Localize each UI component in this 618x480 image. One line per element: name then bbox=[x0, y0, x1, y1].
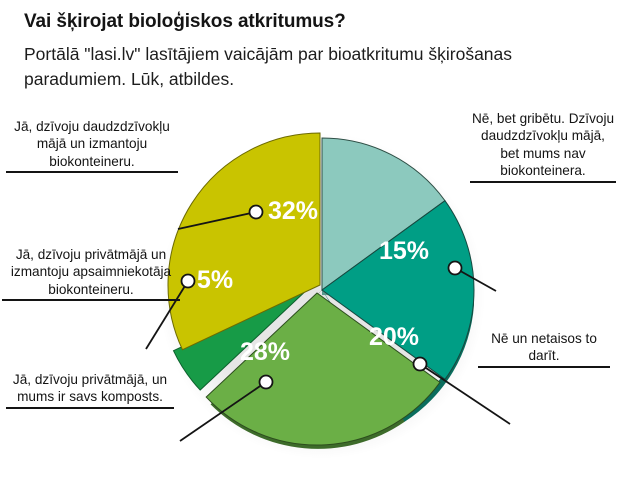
leader-dot-28[interactable] bbox=[260, 376, 273, 389]
pie-chart: 32% 15% 20% 28% 5% bbox=[0, 0, 618, 480]
callout-rule-15 bbox=[470, 181, 616, 183]
callout-rule-28 bbox=[6, 407, 174, 409]
pie-value-28: 28% bbox=[240, 338, 290, 366]
pie-value-5: 5% bbox=[197, 266, 233, 294]
leader-dot-20[interactable] bbox=[414, 358, 427, 371]
callout-text-5: Jā, dzīvoju privātmājā un izmantoju apsa… bbox=[2, 246, 180, 298]
leader-dot-15[interactable] bbox=[449, 262, 462, 275]
callout-text-15: Nē, bet gribētu. Dzīvoju daudzdzīvokļu m… bbox=[470, 110, 616, 180]
callout-rule-32 bbox=[6, 171, 178, 173]
callout-label-5: Jā, dzīvoju privātmājā un izmantoju apsa… bbox=[2, 246, 180, 301]
callout-text-32: Jā, dzīvoju daudzdzīvokļu mājā un izmant… bbox=[6, 118, 178, 170]
infographic-root: Vai šķirojat bioloģiskos atkritumus? Por… bbox=[0, 0, 618, 480]
leader-dot-32[interactable] bbox=[250, 206, 263, 219]
callout-label-32: Jā, dzīvoju daudzdzīvokļu mājā un izmant… bbox=[6, 118, 178, 173]
leader-dot-5[interactable] bbox=[182, 275, 195, 288]
callout-rule-5 bbox=[2, 299, 180, 301]
callout-label-15: Nē, bet gribētu. Dzīvoju daudzdzīvokļu m… bbox=[470, 110, 616, 183]
pie-value-20: 20% bbox=[369, 323, 419, 351]
callout-label-28: Jā, dzīvoju privātmājā, un mums ir savs … bbox=[6, 371, 174, 409]
pie-value-15: 15% bbox=[379, 237, 429, 265]
callout-rule-20 bbox=[478, 366, 610, 368]
pie-value-32: 32% bbox=[268, 197, 318, 225]
callout-text-28: Jā, dzīvoju privātmājā, un mums ir savs … bbox=[6, 371, 174, 406]
callout-label-20: Nē un netaisos to darīt. bbox=[478, 330, 610, 368]
callout-text-20: Nē un netaisos to darīt. bbox=[478, 330, 610, 365]
